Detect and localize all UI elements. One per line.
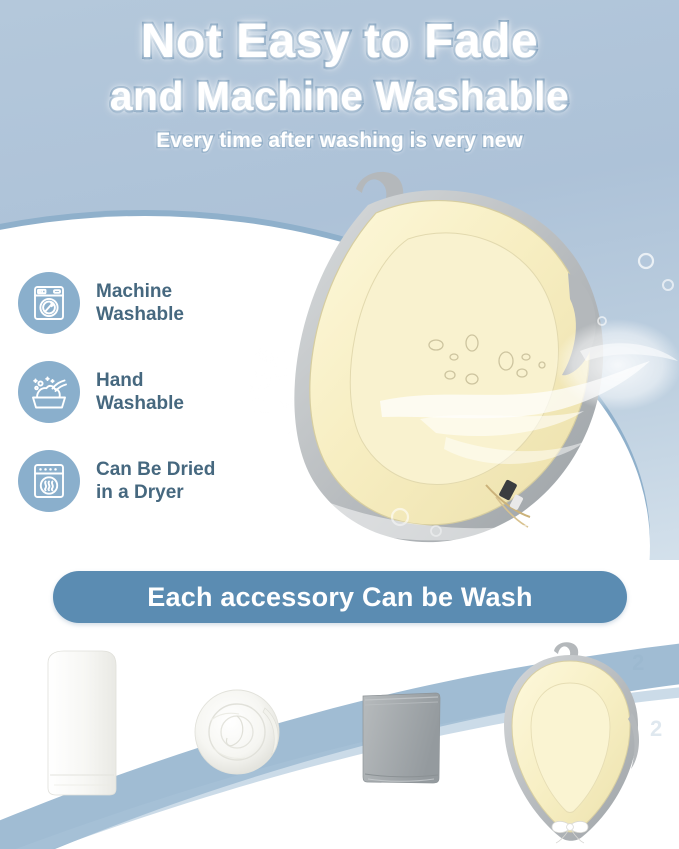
accessory-grey-fabric-cover (360, 690, 442, 788)
feature-item-can-be-dried: Can Be Dried in a Dryer (18, 450, 268, 512)
accessory-rolled-pillow-insert (193, 686, 285, 778)
headline-line-1: Not Easy to Fade (0, 18, 679, 66)
headline-subtitle: Every time after washing is very new (0, 129, 679, 153)
feature-item-hand-washable: Hand Washable (18, 361, 268, 423)
feature-label: Can Be Dried in a Dryer (96, 458, 215, 504)
accessory-banner-label: Each accessory Can be Wash (147, 582, 532, 613)
accessory-mattress-sheet (44, 649, 120, 797)
washing-machine-icon (18, 272, 80, 334)
accessory-row (0, 638, 679, 849)
feature-label: Machine Washable (96, 280, 184, 326)
accessory-banner: Each accessory Can be Wash (53, 571, 627, 623)
hero-product-image (250, 165, 679, 575)
feature-label: Hand Washable (96, 369, 184, 415)
feature-item-machine-washable: Machine Washable (18, 272, 268, 334)
hand-wash-basin-icon (18, 361, 80, 423)
infographic-canvas: 2 2 Not Easy to Fade and Machine Washabl… (0, 0, 679, 849)
headline-line-2: and Machine Washable (0, 76, 679, 117)
tumble-dryer-icon (18, 450, 80, 512)
headline-block: Not Easy to Fade and Machine Washable Ev… (0, 18, 679, 153)
accessory-assembled-baby-nest (498, 639, 644, 847)
feature-list: Machine Washable Hand Washable (18, 272, 268, 539)
